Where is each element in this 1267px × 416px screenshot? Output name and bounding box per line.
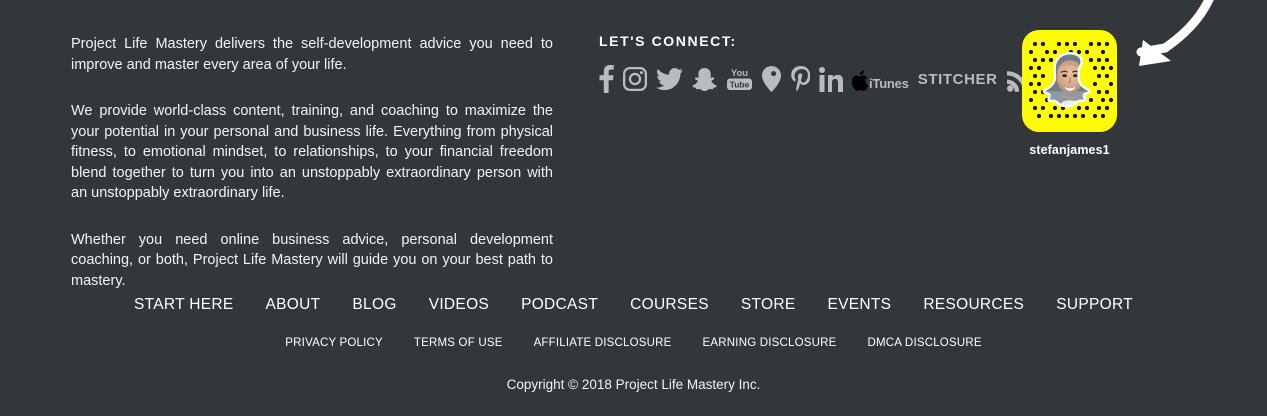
instagram-icon: [623, 67, 647, 91]
profile-photo: [1042, 51, 1098, 113]
about-paragraph-1: Project Life Mastery delivers the self-d…: [71, 34, 553, 75]
nav-link-dmca-disclosure[interactable]: DMCA DISCLOSURE: [868, 337, 982, 349]
svg-text:You: You: [731, 68, 748, 79]
about-paragraph-2: We provide world-class content, training…: [71, 101, 553, 204]
twitter-link[interactable]: [656, 64, 683, 94]
itunes-link[interactable]: iTunes: [852, 66, 909, 93]
nav-link-affiliate-disclosure[interactable]: AFFILIATE DISCLOSURE: [534, 337, 672, 349]
footer-primary-nav: START HERE ABOUT BLOG VIDEOS PODCAST COU…: [0, 296, 1267, 314]
site-footer: { "theme": { "background": "#33363b", "t…: [0, 0, 1267, 416]
nav-link-videos[interactable]: VIDEOS: [429, 296, 489, 314]
facebook-icon: [599, 65, 614, 93]
itunes-label: iTunes: [869, 76, 909, 91]
periscope-link[interactable]: [762, 64, 781, 94]
instagram-link[interactable]: [623, 64, 647, 94]
youtube-icon: You Tube: [726, 66, 753, 92]
curved-arrow-icon: [1113, 0, 1263, 90]
lets-connect-column: LET'S CONNECT:: [599, 33, 1009, 94]
nav-link-about[interactable]: ABOUT: [266, 296, 321, 314]
social-icon-row: You Tube: [599, 64, 1009, 94]
nav-link-privacy-policy[interactable]: PRIVACY POLICY: [285, 337, 383, 349]
apple-icon: [852, 66, 868, 93]
snapchat-link[interactable]: [692, 64, 717, 94]
footer-upper-region: Project Life Mastery delivers the self-d…: [0, 0, 1267, 285]
nav-link-support[interactable]: SUPPORT: [1056, 296, 1133, 314]
snapcode-avatar-ghost: [1042, 51, 1098, 113]
nav-link-podcast[interactable]: PODCAST: [521, 296, 598, 314]
nav-link-start-here[interactable]: START HERE: [134, 296, 233, 314]
about-text-column: Project Life Mastery delivers the self-d…: [71, 34, 553, 291]
stitcher-link[interactable]: STITCHER: [918, 71, 998, 88]
snapchat-username: stefanjames1: [1022, 143, 1117, 157]
periscope-icon: [762, 66, 781, 92]
nav-link-events[interactable]: EVENTS: [827, 296, 891, 314]
youtube-link[interactable]: You Tube: [726, 64, 753, 94]
nav-link-resources[interactable]: RESOURCES: [923, 296, 1024, 314]
nav-link-earning-disclosure[interactable]: EARNING DISCLOSURE: [703, 337, 837, 349]
pinterest-link[interactable]: [790, 64, 810, 94]
nav-link-terms-of-use[interactable]: TERMS OF USE: [414, 337, 503, 349]
snapchat-icon: [692, 67, 717, 92]
nav-link-blog[interactable]: BLOG: [352, 296, 396, 314]
snapchat-snapcode[interactable]: [1022, 30, 1117, 132]
snapcode-column: stefanjames1: [1022, 30, 1117, 157]
pinterest-icon: [790, 66, 810, 93]
nav-link-courses[interactable]: COURSES: [630, 296, 709, 314]
footer-legal-nav: PRIVACY POLICY TERMS OF USE AFFILIATE DI…: [0, 337, 1267, 349]
about-paragraph-3: Whether you need online business advice,…: [71, 230, 553, 292]
nav-link-store[interactable]: STORE: [741, 296, 796, 314]
copyright-text: Copyright © 2018 Project Life Mastery In…: [0, 377, 1267, 392]
svg-text:Tube: Tube: [730, 79, 750, 89]
lets-connect-heading: LET'S CONNECT:: [599, 33, 1009, 49]
twitter-icon: [656, 68, 683, 91]
linkedin-link[interactable]: [819, 64, 843, 94]
facebook-link[interactable]: [599, 64, 614, 94]
linkedin-icon: [819, 67, 843, 92]
